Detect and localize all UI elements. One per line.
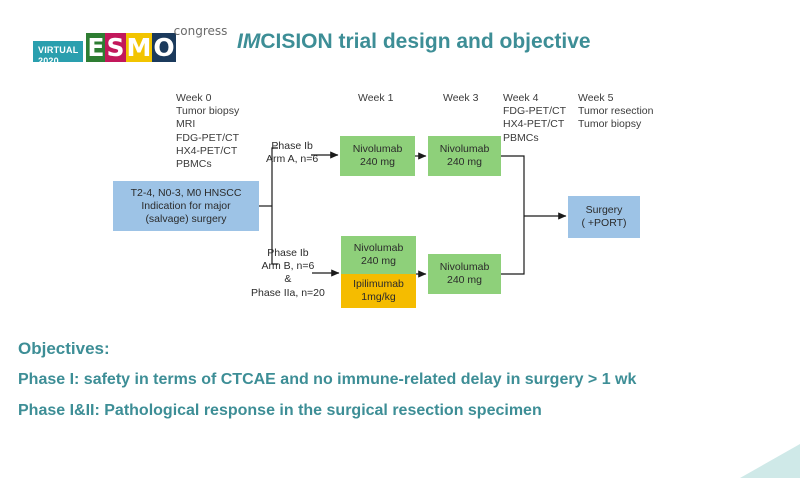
week0-header: Week 0 (176, 92, 239, 105)
arm-b-label: Phase Ib Arm B, n=6 & Phase IIa, n=20 (251, 247, 325, 300)
arm-b-phase2-size: Phase IIa, n=20 (251, 287, 325, 300)
patient-stage-line: T2-4, N0-3, M0 HNSCC (131, 187, 242, 200)
drug-dose: 240 mg (360, 156, 395, 169)
surgery-label: Surgery (586, 204, 623, 217)
trial-design-diagram: Week 0 Tumor biopsy MRI FDG-PET/CT HX4-P… (0, 0, 800, 330)
week4-column: Week 4 FDG-PET/CT HX4-PET/CT PBMCs (503, 92, 566, 145)
objective-phase1: Phase I: safety in terms of CTCAE and no… (18, 364, 788, 395)
objectives-heading: Objectives: (18, 334, 788, 364)
arm-b-ampersand: & (251, 273, 325, 286)
arm-a-size: Arm A, n=6 (266, 153, 318, 166)
arm-a-week1-nivolumab-box: Nivolumab 240 mg (340, 136, 415, 176)
arm-b-phase: Phase Ib (251, 247, 325, 260)
week1-header: Week 1 (358, 92, 393, 105)
drug-dose: 240 mg (447, 156, 482, 169)
arm-a-phase: Phase Ib (266, 140, 318, 153)
patient-indication-line: Indication for major (141, 200, 230, 213)
arm-b-size: Arm B, n=6 (251, 260, 325, 273)
week3-header: Week 3 (443, 92, 478, 105)
arm-a-label: Phase Ib Arm A, n=6 (266, 140, 318, 166)
objectives-section: Objectives: Phase I: safety in terms of … (18, 334, 788, 426)
week4-item-1: HX4-PET/CT (503, 118, 566, 131)
drug-name: Ipilimumab (353, 278, 404, 291)
drug-dose: 240 mg (361, 255, 396, 268)
week5-column: Week 5 Tumor resection Tumor biopsy (578, 92, 653, 132)
drug-name: Nivolumab (353, 143, 403, 156)
corner-accent-decoration (740, 444, 800, 478)
week4-item-0: FDG-PET/CT (503, 105, 566, 118)
arm-b-week1-ipilimumab-box: Ipilimumab 1mg/kg (341, 274, 416, 308)
week1-column: Week 1 (358, 92, 393, 105)
week0-item-0: Tumor biopsy (176, 105, 239, 118)
drug-name: Nivolumab (440, 143, 490, 156)
week0-item-1: MRI (176, 118, 239, 131)
patient-population-box: T2-4, N0-3, M0 HNSCC Indication for majo… (113, 181, 259, 231)
surgery-box: Surgery ( +PORT) (568, 196, 640, 238)
drug-name: Nivolumab (440, 261, 490, 274)
patient-surgery-line: (salvage) surgery (145, 213, 226, 226)
week4-header: Week 4 (503, 92, 566, 105)
week5-item-0: Tumor resection (578, 105, 653, 118)
surgery-port-label: ( +PORT) (581, 217, 626, 230)
week4-item-2: PBMCs (503, 132, 566, 145)
drug-name: Nivolumab (354, 242, 404, 255)
week3-column: Week 3 (443, 92, 478, 105)
week0-column: Week 0 Tumor biopsy MRI FDG-PET/CT HX4-P… (176, 92, 239, 171)
arm-b-week3-nivolumab-box: Nivolumab 240 mg (428, 254, 501, 294)
arm-a-week3-nivolumab-box: Nivolumab 240 mg (428, 136, 501, 176)
drug-dose: 240 mg (447, 274, 482, 287)
week0-item-4: PBMCs (176, 158, 239, 171)
week5-header: Week 5 (578, 92, 653, 105)
arm-b-week1-nivolumab-box: Nivolumab 240 mg (341, 236, 416, 274)
drug-dose: 1mg/kg (361, 291, 395, 304)
week0-item-3: HX4-PET/CT (176, 145, 239, 158)
week0-item-2: FDG-PET/CT (176, 132, 239, 145)
objective-phase1and2: Phase I&II: Pathological response in the… (18, 395, 788, 426)
week5-item-1: Tumor biopsy (578, 118, 653, 131)
